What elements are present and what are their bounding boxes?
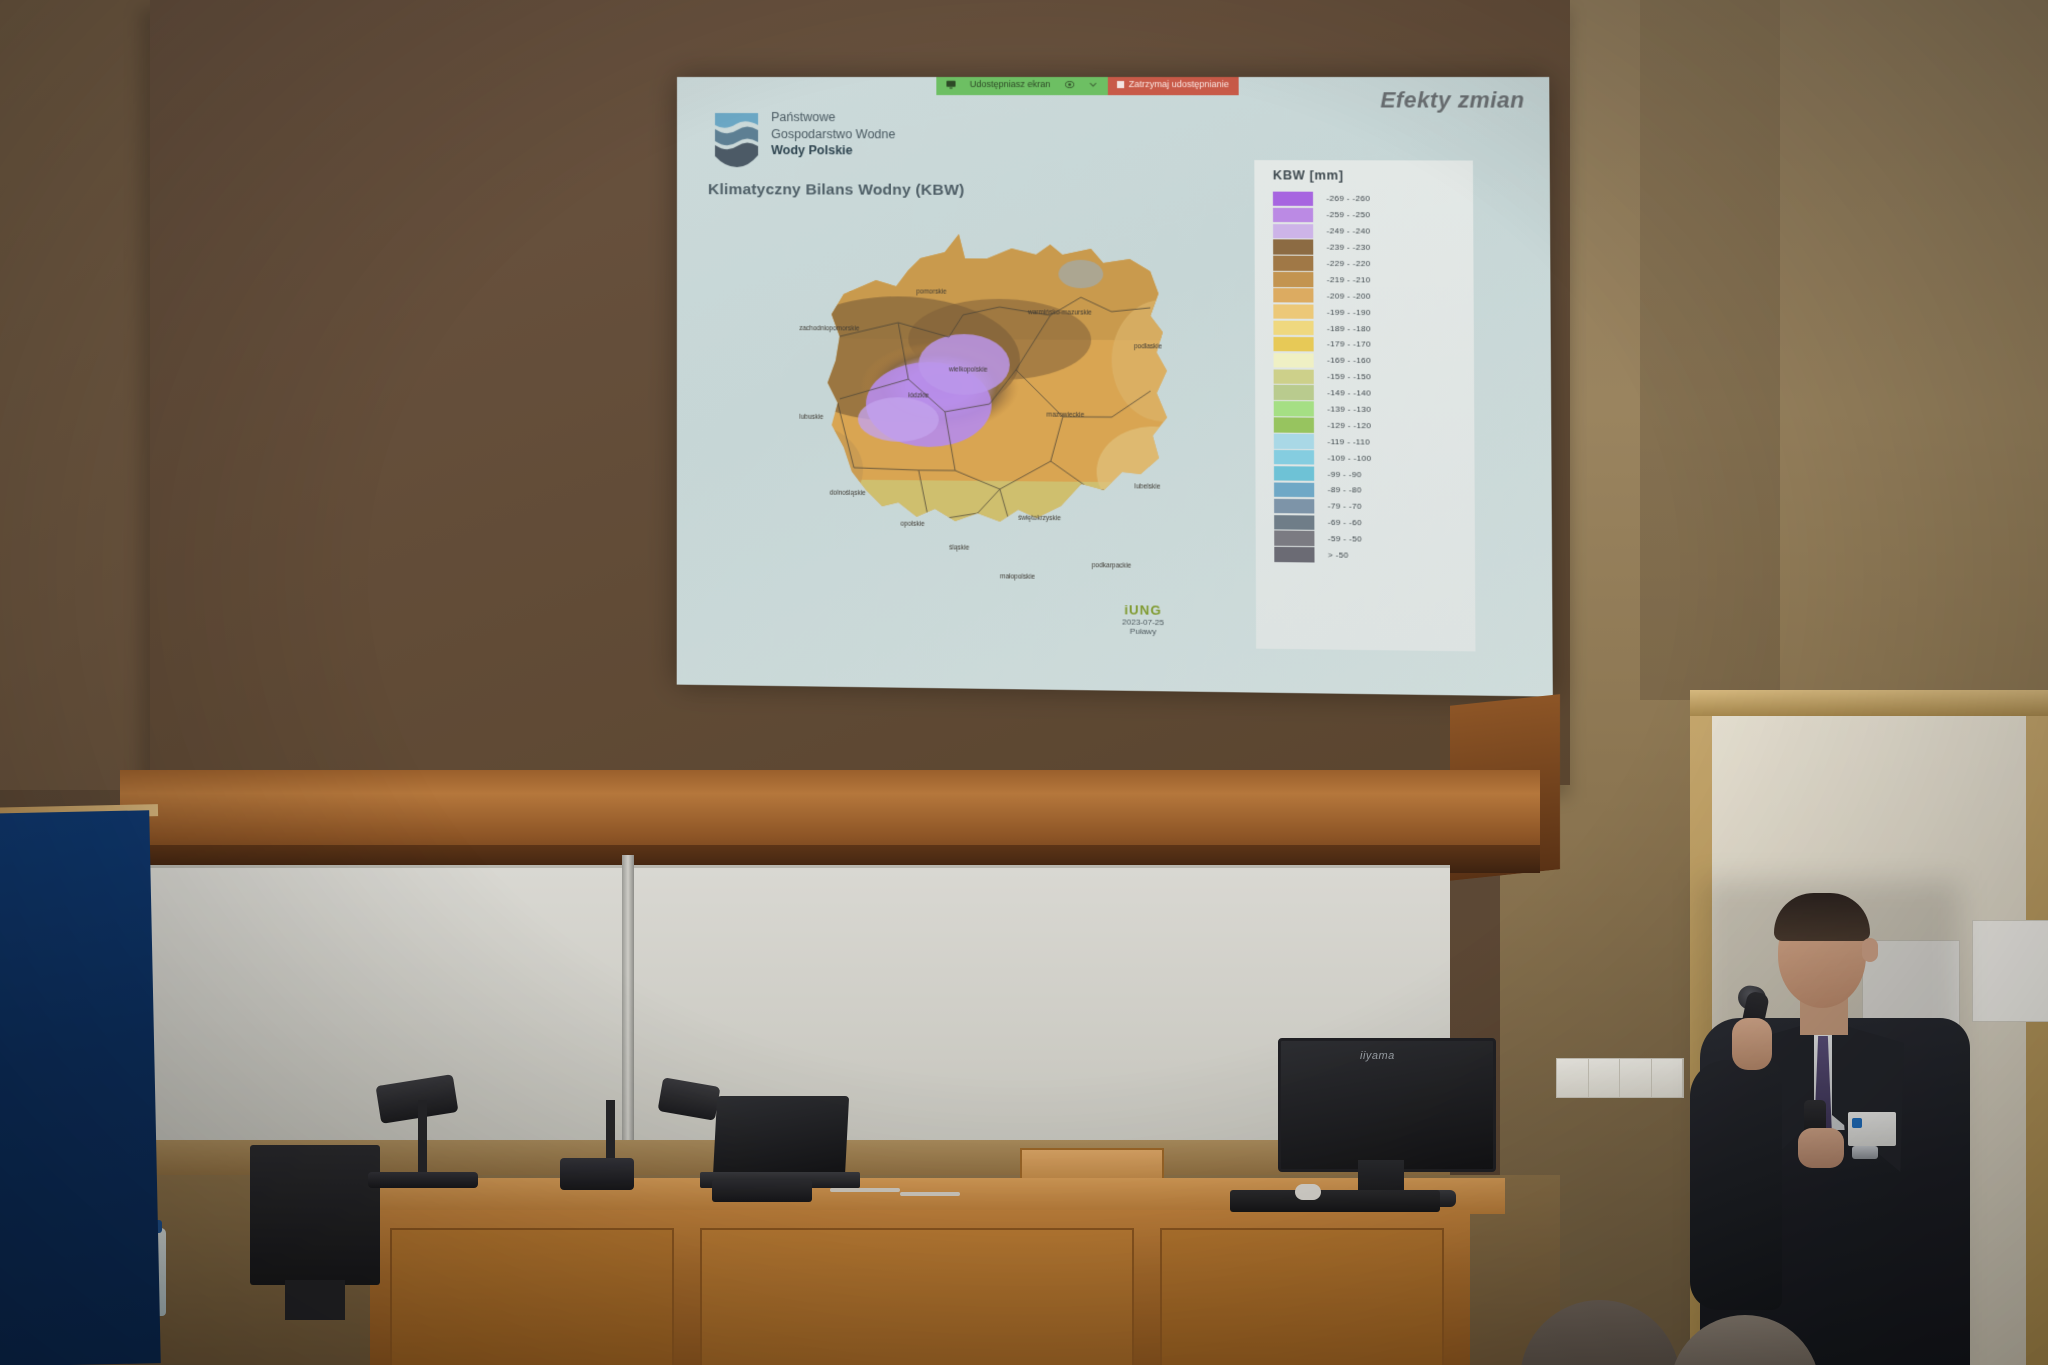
legend-swatch (1273, 288, 1313, 303)
cable-2 (900, 1192, 960, 1196)
legend-swatch (1273, 337, 1313, 352)
map-label-zachodniopomorskie: zachodniopomorskie (799, 325, 859, 332)
light-switch-panel[interactable] (1556, 1058, 1684, 1098)
legend-label: -219 - -210 (1327, 275, 1371, 284)
map-label-swietokrzyskie: świętokrzyskie (1018, 515, 1061, 523)
legend-label: -189 - -180 (1327, 324, 1371, 333)
wall-column (1640, 0, 1780, 700)
wave-shield-logo-icon (713, 109, 760, 167)
legend-swatch (1273, 240, 1313, 255)
legend-label: > -50 (1328, 550, 1349, 559)
cable-1 (830, 1188, 900, 1192)
presenter-wristwatch (1852, 1146, 1878, 1159)
logo-line-3: Wody Polskie (771, 142, 895, 159)
logo-line-2: Gospodarstwo Wodne (771, 126, 895, 143)
legend-label: -199 - -190 (1327, 307, 1371, 316)
legend-row: -189 - -180 (1273, 320, 1473, 337)
eye-icon[interactable] (1065, 80, 1074, 89)
map-label-lubuskie: lubuskie (799, 414, 823, 421)
light-switch-4[interactable] (1652, 1059, 1684, 1097)
legend-label: -249 - -240 (1327, 227, 1371, 236)
legend-row: -69 - -60 (1274, 514, 1475, 532)
light-switch-3[interactable] (1620, 1059, 1652, 1097)
document-camera-base-left (368, 1172, 478, 1188)
screen-share-icon (946, 80, 955, 89)
legend-row: -139 - -130 (1274, 401, 1475, 419)
legend-label: -239 - -230 (1327, 243, 1371, 252)
legend-label: -149 - -140 (1327, 388, 1371, 397)
map-label-wielkopolskie: wielkopolskie (948, 366, 988, 373)
map-label-malopolskie: małopolskie (1000, 573, 1035, 581)
legend-swatch (1274, 385, 1314, 400)
legend-swatch (1274, 515, 1314, 530)
map-city: Puławy (1097, 626, 1189, 636)
legend-label: -179 - -170 (1327, 340, 1371, 349)
wall-poster-qr (1972, 920, 2048, 1022)
legend-label: -119 - -110 (1327, 437, 1370, 447)
legend-label: -269 - -260 (1326, 194, 1370, 203)
iung-logo: iUNG (1097, 602, 1189, 618)
chevron-down-icon[interactable] (1088, 80, 1097, 89)
map-label-podlaskie: podlaskie (1134, 343, 1162, 350)
map-label-podkarpackie: podkarpackie (1092, 562, 1132, 570)
legend-row: -169 - -160 (1274, 352, 1474, 369)
desk-panel-left (390, 1228, 674, 1365)
legend-label: -209 - -200 (1327, 291, 1371, 300)
legend-label: -59 - -50 (1328, 534, 1362, 544)
legend-swatch (1273, 321, 1313, 336)
legend-label: -89 - -80 (1328, 486, 1362, 496)
legend-swatch (1273, 207, 1313, 222)
legend-label: -139 - -130 (1327, 404, 1371, 414)
monitor-brand-label: iiyama (1360, 1050, 1395, 1062)
presenter-hand-holding-mic (1732, 1018, 1772, 1070)
logo-line-1: Państwowe (771, 109, 895, 126)
pgw-logo: Państwowe Gospodarstwo Wodne Wody Polski… (713, 109, 895, 167)
map-svg: zachodniopomorskie pomorskie warmińsko-m… (747, 217, 1225, 625)
legend-row: -239 - -230 (1273, 239, 1473, 256)
legend-row: -179 - -170 (1273, 336, 1473, 353)
map-label-slaskie: śląskie (949, 544, 970, 551)
poland-kbw-map: zachodniopomorskie pomorskie warmińsko-m… (747, 217, 1225, 625)
map-label-opolskie: opolskie (900, 521, 925, 528)
presenter-badge-logo (1852, 1118, 1862, 1128)
presentation-slide: Udostępniasz ekran Zatrzymaj udostępnian… (677, 77, 1553, 697)
legend-swatch (1274, 401, 1314, 416)
stop-sharing-label: Zatrzymaj udostępnianie (1129, 79, 1229, 89)
presenter-ear (1862, 938, 1878, 962)
stop-square-icon (1117, 81, 1124, 88)
legend-row: -259 - -250 (1273, 207, 1473, 224)
door-top-trim (1690, 690, 2048, 716)
side-monitor (250, 1145, 380, 1285)
legend-row: -59 - -50 (1274, 530, 1475, 548)
map-label-mazowieckie: mazowieckie (1047, 412, 1085, 419)
light-switch-1[interactable] (1557, 1059, 1589, 1097)
legend-swatch (1274, 482, 1314, 497)
legend-label: -79 - -70 (1328, 502, 1362, 512)
legend-swatch (1274, 547, 1314, 562)
legend-row: -89 - -80 (1274, 482, 1475, 500)
legend-swatch (1273, 256, 1313, 271)
pgw-logo-text: Państwowe Gospodarstwo Wodne Wody Polski… (771, 109, 895, 159)
map-label-dolnoslaskie: dolnośląskie (830, 490, 866, 497)
legend-label: -259 - -250 (1326, 210, 1370, 219)
legend-swatch (1274, 369, 1314, 384)
map-label-warminsko-mazurskie: warmińsko-mazurskie (1027, 309, 1092, 316)
legend-swatch (1273, 191, 1313, 206)
legend-swatch (1273, 224, 1313, 239)
legend-row: -229 - -220 (1273, 255, 1473, 272)
screenshot-root: Udostępniasz ekran Zatrzymaj udostępnian… (0, 0, 2048, 1365)
light-switch-2[interactable] (1589, 1059, 1621, 1097)
document-camera-base-right (560, 1158, 634, 1190)
legend-row: -269 - -260 (1273, 191, 1473, 208)
desk-panel-right (1160, 1228, 1444, 1365)
sharing-status[interactable]: Udostępniasz ekran (936, 77, 1107, 95)
roll-up-banner: 2 ® studia · doradztwo GOPOMIAR MIE EKSP… (0, 810, 161, 1365)
whiteboard-post (622, 855, 634, 1165)
legend-row: -129 - -120 (1274, 417, 1475, 435)
legend-label: -129 - -120 (1327, 421, 1371, 431)
chart-title: Klimatyczny Bilans Wodny (KBW) (708, 181, 964, 200)
map-credit: iUNG 2023-07-25 Puławy (1097, 602, 1189, 637)
legend-label: -99 - -90 (1328, 469, 1362, 478)
legend-label: -69 - -60 (1328, 518, 1362, 528)
legend-row: -79 - -70 (1274, 498, 1475, 516)
legend-row: -199 - -190 (1273, 304, 1473, 321)
legend-swatch (1274, 498, 1314, 513)
legend-row: -159 - -150 (1274, 368, 1475, 386)
legend-label: -169 - -160 (1327, 356, 1371, 365)
legend-swatch (1273, 272, 1313, 287)
legend-row: -219 - -210 (1273, 271, 1473, 288)
legend-row: -209 - -200 (1273, 287, 1473, 304)
legend-label: -229 - -220 (1327, 259, 1371, 268)
stop-sharing-button[interactable]: Zatrzymaj udostępnianie (1107, 77, 1238, 95)
legend-swatch (1274, 466, 1314, 481)
map-label-pomorskie: pomorskie (916, 288, 947, 295)
legend-swatch (1274, 531, 1314, 546)
presenter-arm (1690, 1060, 1782, 1310)
legend-swatch (1274, 450, 1314, 465)
presenter-hand-left (1798, 1128, 1844, 1168)
legend-swatch (1274, 434, 1314, 449)
legend-swatch (1273, 304, 1313, 319)
side-monitor-stand (285, 1280, 345, 1320)
map-label-lodzkie: łódzkie (908, 392, 929, 399)
projection-screen: Udostępniasz ekran Zatrzymaj udostępnian… (150, 0, 1570, 785)
legend-row: -109 - -100 (1274, 449, 1475, 467)
desk-panel-center (700, 1228, 1134, 1365)
legend-row: -249 - -240 (1273, 223, 1473, 240)
sharing-label: Udostępniasz ekran (970, 79, 1051, 89)
keyboard[interactable] (1230, 1190, 1440, 1212)
legend-label: -109 - -100 (1327, 453, 1371, 463)
deck-title: Efekty zmian (1380, 87, 1524, 114)
legend-row: -149 - -140 (1274, 384, 1475, 402)
legend-row: -119 - -110 (1274, 433, 1475, 451)
laptop-lid (713, 1096, 849, 1178)
legend-label: -159 - -150 (1327, 372, 1371, 381)
legend-title: KBW [mm] (1254, 160, 1473, 191)
legend-row: > -50 (1274, 546, 1475, 564)
map-label-lubelskie: lubelskie (1134, 483, 1160, 490)
mouse[interactable] (1295, 1184, 1321, 1200)
screen-share-bar[interactable]: Udostępniasz ekran Zatrzymaj udostępnian… (936, 77, 1238, 95)
cable-box (712, 1180, 812, 1202)
legend-swatch (1274, 418, 1314, 433)
legend-row: -99 - -90 (1274, 465, 1475, 483)
legend-rows: -269 - -260-259 - -250-249 - -240-239 - … (1254, 191, 1475, 565)
kbw-legend: KBW [mm] -269 - -260-259 - -250-249 - -2… (1254, 160, 1475, 651)
legend-swatch (1274, 353, 1314, 368)
